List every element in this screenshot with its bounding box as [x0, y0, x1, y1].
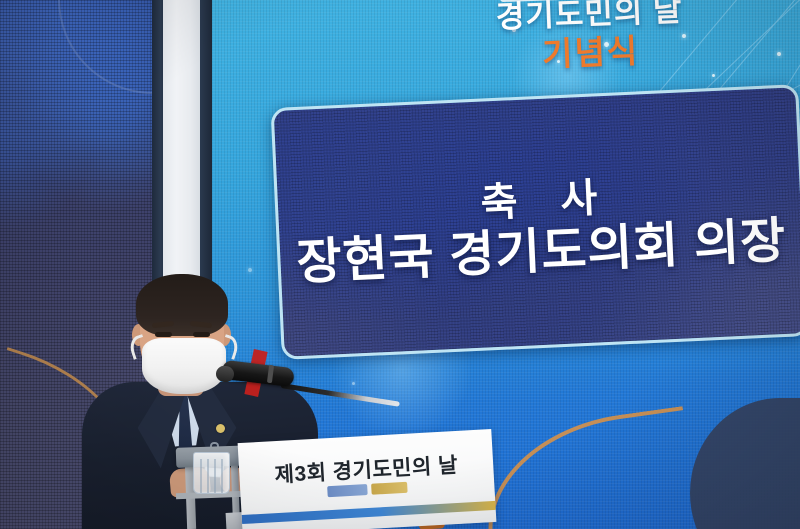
photo-stage: 경기도민의 날 기념식 축 사 장현국 경기도의회 의장	[0, 0, 800, 529]
eye-right	[193, 332, 210, 337]
eye-left	[155, 332, 172, 337]
podium-badge-left	[327, 484, 368, 497]
speaker-title-panel: 축 사 장현국 경기도의회 의장	[271, 84, 800, 360]
water-glass	[193, 452, 230, 494]
podium-front-panel: 제3회 경기도민의 날	[238, 429, 497, 529]
particle-dot	[604, 42, 609, 47]
speaker-role-label: 축 사	[464, 175, 615, 226]
particle-dot	[777, 52, 781, 56]
speaker-name-label: 장현국 경기도의회 의장	[295, 213, 787, 290]
hair	[136, 274, 228, 336]
podium-color-stripe	[242, 501, 496, 524]
particle-dot	[512, 28, 516, 32]
particle-dot	[352, 382, 355, 385]
particle-dot	[682, 34, 686, 38]
particle-dot	[712, 74, 715, 77]
face-mask	[142, 338, 226, 394]
lapel-pin-icon	[216, 424, 225, 433]
particle-dot	[557, 60, 560, 63]
speaker-title-text: 축 사 장현국 경기도의회 의장	[274, 87, 800, 356]
podium-badge-right	[371, 482, 408, 495]
